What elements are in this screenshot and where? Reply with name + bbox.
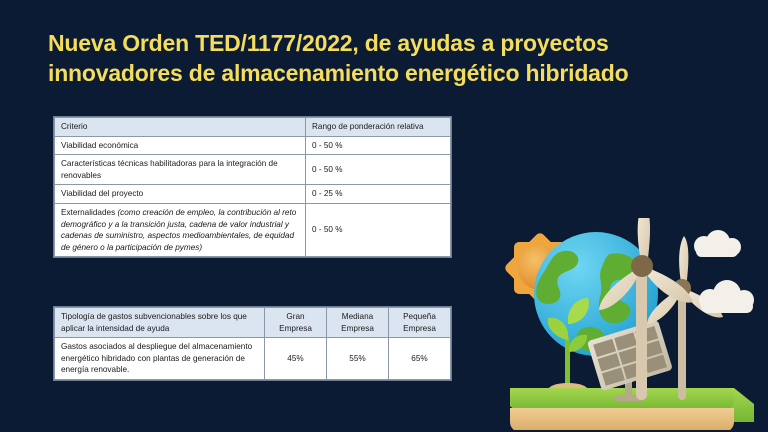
table-row-header: Tipología de gastos subvencionables sobr… bbox=[55, 308, 451, 338]
wind-turbine-icon bbox=[647, 236, 723, 400]
cell-criterio-4-lead: Externalidades bbox=[61, 208, 117, 217]
cell-rango-4: 0 - 50 % bbox=[306, 203, 451, 256]
column-header-mediana-empresa: Mediana Empresa bbox=[327, 308, 389, 338]
title-line-2: innovadores de almacenamiento energético… bbox=[48, 58, 738, 88]
cell-pequena-empresa: 65% bbox=[389, 338, 451, 380]
slide-canvas: Nueva Orden TED/1177/2022, de ayudas a p… bbox=[0, 0, 768, 432]
column-header-rango: Rango de ponderación relativa bbox=[306, 118, 451, 137]
table-row: Características técnicas habilitadoras p… bbox=[55, 155, 451, 185]
cell-rango-2: 0 - 50 % bbox=[306, 155, 451, 185]
table-row: Gastos asociados al despliegue del almac… bbox=[55, 338, 451, 380]
renewable-energy-illustration bbox=[492, 218, 762, 430]
cell-criterio-3: Viabilidad del proyecto bbox=[55, 185, 306, 204]
cloud-icon bbox=[699, 280, 754, 313]
cell-gran-empresa: 45% bbox=[265, 338, 327, 380]
table-row: Viabilidad económica 0 - 50 % bbox=[55, 136, 451, 155]
cell-rango-1: 0 - 50 % bbox=[306, 136, 451, 155]
cell-mediana-empresa: 55% bbox=[327, 338, 389, 380]
cell-concepto: Gastos asociados al despliegue del almac… bbox=[55, 338, 265, 380]
cell-criterio-2: Características técnicas habilitadoras p… bbox=[55, 155, 306, 185]
cell-rango-3: 0 - 25 % bbox=[306, 185, 451, 204]
table-row-header: Criterio Rango de ponderación relativa bbox=[55, 118, 451, 137]
column-header-criterio: Criterio bbox=[55, 118, 306, 137]
page-title: Nueva Orden TED/1177/2022, de ayudas a p… bbox=[48, 28, 738, 88]
title-line-1: Nueva Orden TED/1177/2022, de ayudas a p… bbox=[48, 28, 738, 58]
column-header-tipologia: Tipología de gastos subvencionables sobr… bbox=[55, 308, 265, 338]
cell-criterio-1: Viabilidad económica bbox=[55, 136, 306, 155]
table-tipologia: Tipología de gastos subvencionables sobr… bbox=[54, 307, 451, 380]
table-criterios: Criterio Rango de ponderación relativa V… bbox=[54, 117, 451, 257]
cell-criterio-4: Externalidades (como creación de empleo,… bbox=[55, 203, 306, 256]
cloud-icon bbox=[694, 230, 741, 257]
table-row: Externalidades (como creación de empleo,… bbox=[55, 203, 451, 256]
column-header-pequena-empresa: Pequeña Empresa bbox=[389, 308, 451, 338]
column-header-gran-empresa: Gran Empresa bbox=[265, 308, 327, 338]
table-row: Viabilidad del proyecto 0 - 25 % bbox=[55, 185, 451, 204]
